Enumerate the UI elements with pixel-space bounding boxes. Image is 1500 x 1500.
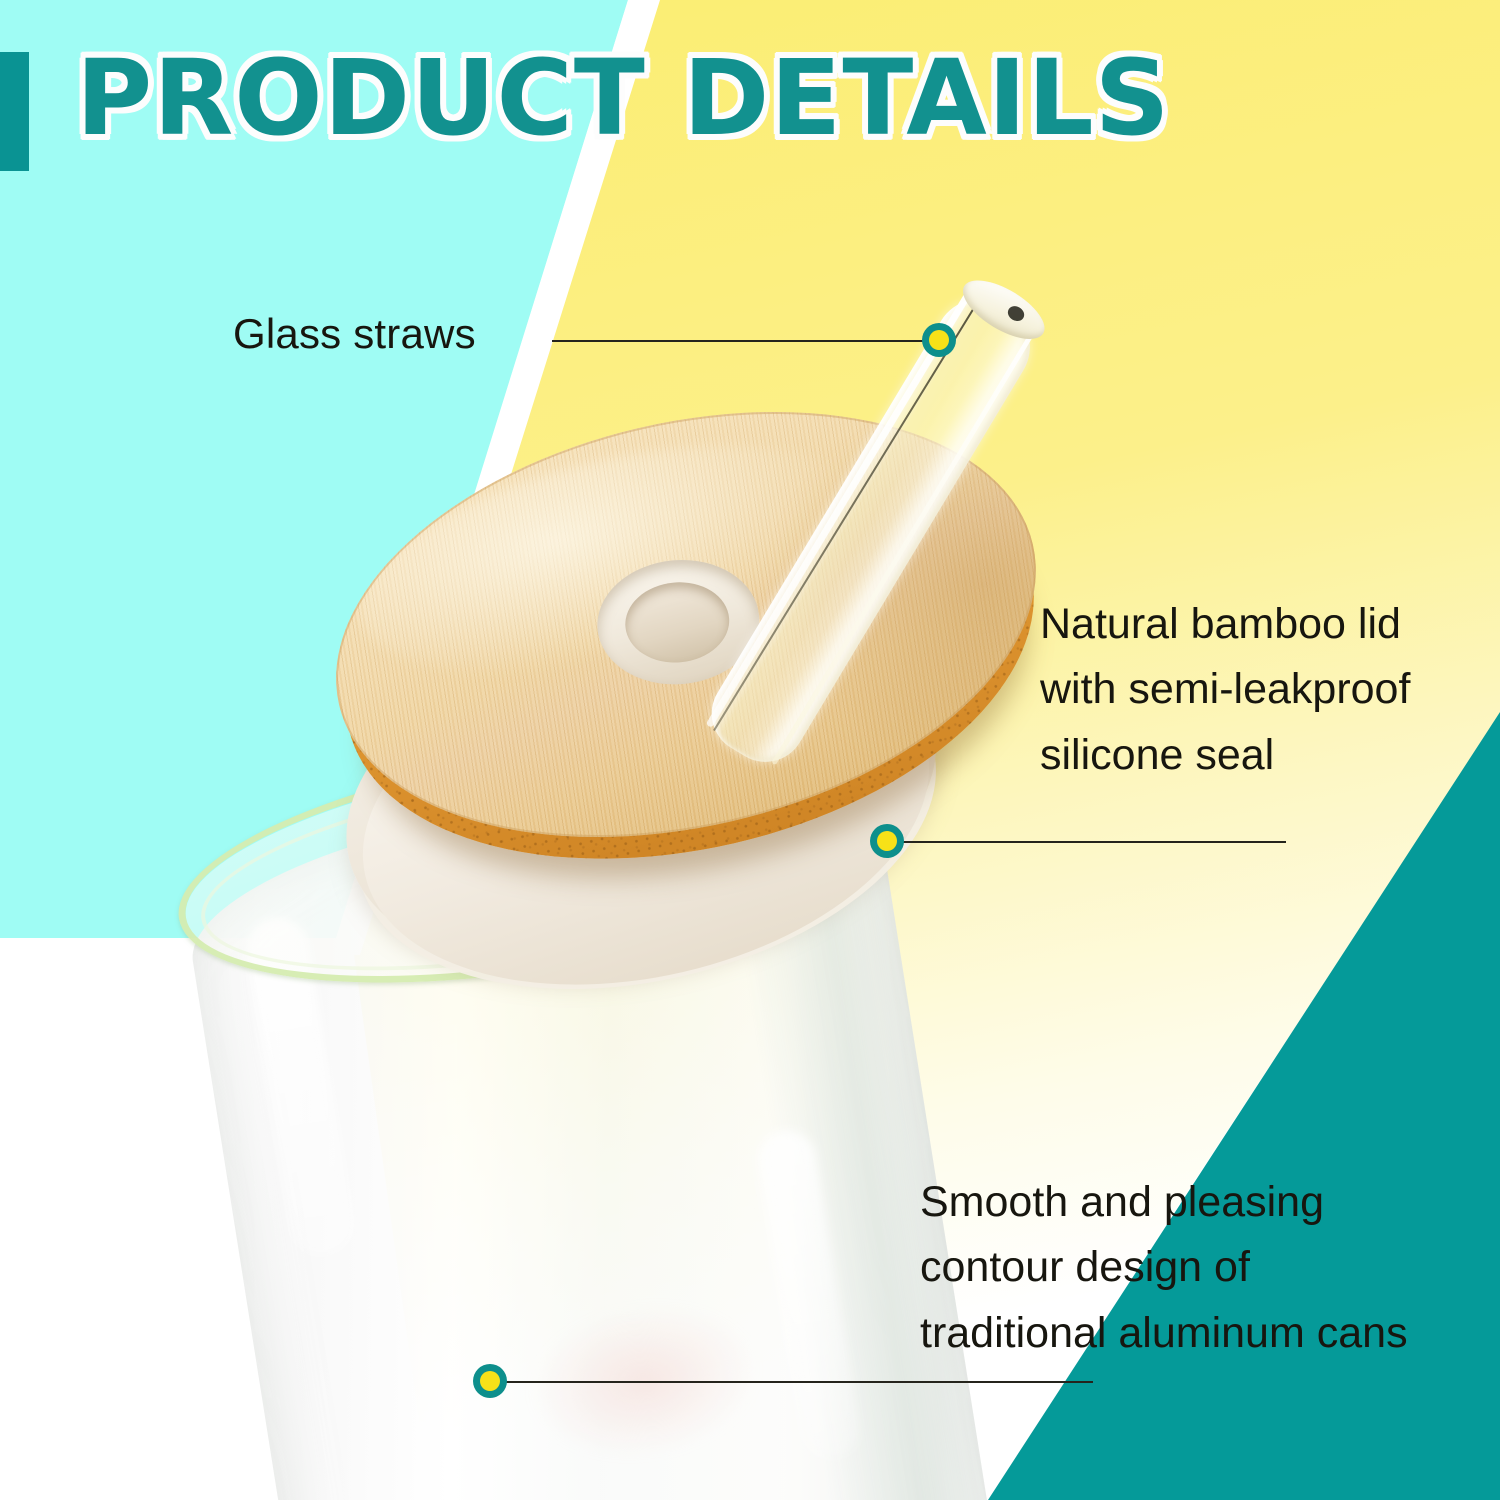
callout-dot-contour-design[interactable] (473, 1364, 507, 1398)
callout-label-glass-straws: Glass straws (233, 310, 476, 358)
callout-label-contour-design: Smooth and pleasing contour design of tr… (920, 1170, 1408, 1366)
callout-line-contour-design (505, 1381, 1093, 1383)
callout-label-bamboo-lid: Natural bamboo lid with semi-leakproof s… (1040, 592, 1410, 788)
callout-dot-glass-straws[interactable] (922, 323, 956, 357)
callout-line-glass-straws (552, 340, 927, 342)
callout-line-bamboo-lid (903, 841, 1286, 843)
infographic-canvas: PRODUCT DETAILS (0, 0, 1500, 1500)
callout-dot-bamboo-lid[interactable] (870, 824, 904, 858)
